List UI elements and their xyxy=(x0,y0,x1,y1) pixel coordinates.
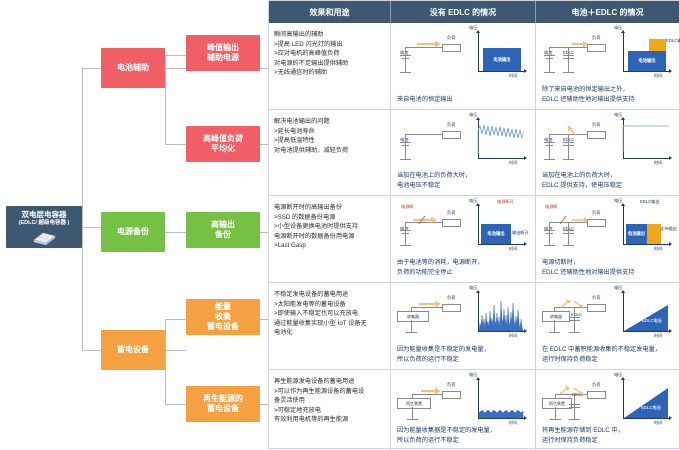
node-label: 电源备份 xyxy=(117,227,149,237)
energy-source-box: 收集器 xyxy=(397,311,429,322)
node-storage-device[interactable]: 蓄电设备 xyxy=(101,330,165,370)
connector xyxy=(165,232,186,233)
chart-edlc-voltage-label: EDLC电压 xyxy=(638,317,666,325)
description-text: 不稳定发电设备的蓄电用途 >太阳能发电等的蓄电设备 >即使输入不稳定也可以充放电… xyxy=(274,290,386,338)
energy-source-box: 收集器 xyxy=(542,311,570,322)
cell-description: 不稳定发电设备的蓄电用途 >太阳能发电等的蓄电设备 >即使输入不稳定也可以充放电… xyxy=(269,283,391,369)
waveform-low-bumpy xyxy=(479,380,524,418)
connector xyxy=(165,350,186,351)
header-effect-usage: 效果和用途 xyxy=(269,1,391,23)
table-row: 瞬间高输出的辅助 >提高 LED 闪光灯的输出 >应对电机的高峰值负荷 对电源的… xyxy=(269,23,679,110)
node-label: 峰值输出 辅助电源 xyxy=(207,43,239,63)
caption: 因为能量收集器是不稳定的发电量， 所以负荷的运行不稳定 xyxy=(397,426,496,445)
chart-block-edlc-label: EDLC输出 xyxy=(666,38,680,44)
connector xyxy=(165,144,186,145)
chart-block-battery: 电池输出 xyxy=(483,48,521,71)
chart-block-battery: 电池输出 xyxy=(626,224,647,244)
cell-without-edlc: 电池 负荷 电压 xyxy=(391,23,536,109)
node-regen-storage[interactable]: 再生能源的 蓄电设备 xyxy=(186,386,260,422)
cell-without-edlc: 电源断 电池 负荷 xyxy=(391,196,536,282)
chart-edlc-output-label: EDLC输出 xyxy=(640,199,660,205)
node-label: 能量 收集 蓄电设备 xyxy=(207,302,239,332)
caption: 由于电池等的消耗，电源断开， 负荷的功能完全停止 xyxy=(397,258,484,277)
cell-description: 解决电池输出的问题 >延长电池寿命 >提高低温特性 对电池提供辅助，减轻负荷 xyxy=(269,110,391,195)
connector xyxy=(82,68,83,227)
voltage-chart: 电压 时间 EDLC电压 xyxy=(616,376,676,428)
connector xyxy=(165,319,166,404)
cell-without-edlc: 再生装置 负荷 电压 xyxy=(391,370,536,450)
caption: 来自电池的恒定输出 xyxy=(397,95,453,104)
cell-description: 瞬间高输出的辅助 >提高 LED 闪光灯的输出 >应对电机的高峰值负荷 对电源的… xyxy=(269,23,391,109)
table-row: 解决电池输出的问题 >延长电池寿命 >提高低温特性 对电池提供辅助，减轻负荷 电… xyxy=(269,110,679,196)
caption: 将再生能源存储到 EDLC 中， 运行时保持负荷稳定 xyxy=(542,426,624,445)
power-cut-label: 电源断 xyxy=(545,204,558,210)
caption: 除了来自电池的恒定输出之外， EDLC 还辅助性地对输出提供支持 xyxy=(542,85,634,104)
power-cut-label: 电源断 xyxy=(401,204,414,210)
description-text: 再生能源发电设备的蓄电用途 >可以作为再生能源设备的蓄电设 备灵活使用 >可稳定… xyxy=(274,377,386,425)
circuit-diagram: 电源断 电池 EDLC 负荷 xyxy=(542,204,614,252)
node-peak-output[interactable]: 峰值输出 辅助电源 xyxy=(186,35,260,71)
voltage-chart: 电压 时间 xyxy=(471,116,531,168)
voltage-chart: 电压 时间 xyxy=(471,376,531,428)
description-text: 解决电池输出的问题 >延长电池寿命 >提高低温特性 对电池提供辅助，减轻负荷 xyxy=(274,117,386,155)
circuit-diagram: 电池 负荷 xyxy=(397,31,469,79)
node-label: 高峰值负荷 平均化 xyxy=(203,134,243,154)
circuit-diagram: 再生装置 EDLC 负荷 xyxy=(542,378,614,426)
caption: 因为能量收集是不稳定的发电量， 所以负荷的运行不稳定 xyxy=(397,345,490,364)
chart-block-battery: 电池输出 xyxy=(481,224,511,244)
chart-block-edlc xyxy=(647,224,661,244)
circuit-diagram: 电源断 电池 负荷 xyxy=(397,204,469,252)
root-title: 双电层电容器 xyxy=(22,210,67,219)
circuit-diagram: 电池 负荷 xyxy=(397,118,469,166)
cell-without-edlc: 收集器 负荷 电压 xyxy=(391,283,536,369)
waveform-ramp-triangle xyxy=(624,380,669,418)
node-label: 蓄电设备 xyxy=(117,345,149,355)
regen-source-box: 再生装置 xyxy=(397,398,431,409)
node-label: 高输出 备份 xyxy=(211,220,235,240)
waveform-spiky-irregular xyxy=(479,293,524,331)
connector xyxy=(165,404,186,405)
connector xyxy=(165,319,186,320)
capacitor-chip-icon xyxy=(29,229,59,246)
connector xyxy=(82,227,101,228)
cell-description: 电源断开时的高输出备份 >SSD 的数据备份电源 >小型设备更换电池时提供支持 … xyxy=(269,196,391,282)
output-chart: 电压 时间 电池输出 xyxy=(471,29,531,81)
comparison-table: 效果和用途 没有 EDLC 的情况 电池＋EDLC 的情况 瞬间高输出的辅助 >… xyxy=(268,0,680,449)
support-output-label: 支持输出 xyxy=(660,226,677,232)
description-text: 电源断开时的高输出备份 >SSD 的数据备份电源 >小型设备更换电池时提供支持 … xyxy=(274,203,386,251)
cell-with-edlc: 再生装置 EDLC 负荷 xyxy=(536,370,679,450)
table-row: 再生能源发电设备的蓄电用途 >可以作为再生能源设备的蓄电设 备灵活使用 >可稳定… xyxy=(269,370,679,450)
connector xyxy=(165,55,166,144)
caption: 在 EDLC 中蓄积能源收集的不稳定发电量， 运行时保持负荷稳定 xyxy=(542,345,661,364)
root-node-edlc[interactable]: 双电层电容器 (EDLC/ 超级电容器 ) xyxy=(6,206,82,248)
circuit-diagram: 收集器 EDLC 负荷 xyxy=(542,291,614,339)
output-chart: 电压 电源断开 时间 电池输出 输出断开 xyxy=(471,202,531,254)
header-without-edlc: 没有 EDLC 的情况 xyxy=(391,1,536,23)
connector xyxy=(82,227,83,350)
node-energy-harvest[interactable]: 能量 收集 蓄电设备 xyxy=(186,299,260,335)
waveform-flat-stable xyxy=(623,120,671,158)
cell-with-edlc: 电源断 电池 EDLC 负荷 xyxy=(536,196,679,282)
cell-description: 再生能源发电设备的蓄电用途 >可以作为再生能源设备的蓄电设 备灵活使用 >可稳定… xyxy=(269,370,391,450)
description-text: 瞬间高输出的辅助 >提高 LED 闪光灯的输出 >应对电机的高峰值负荷 对电源的… xyxy=(274,30,386,78)
table-row: 电源断开时的高输出备份 >SSD 的数据备份电源 >小型设备更换电池时提供支持 … xyxy=(269,196,679,283)
node-label: 电池辅助 xyxy=(117,63,149,73)
connector xyxy=(82,350,101,351)
connector xyxy=(165,55,186,56)
caption: 当加在电池上的负荷大时， 电池电压不稳定 xyxy=(397,171,471,190)
connector xyxy=(165,68,186,69)
connector xyxy=(82,68,101,69)
cell-with-edlc: 电池 EDLC 负荷 xyxy=(536,23,679,109)
cell-with-edlc: 收集器 EDLC 负荷 xyxy=(536,283,679,369)
node-battery-assist[interactable]: 电池辅助 xyxy=(101,48,165,88)
root-subtitle: (EDLC/ 超级电容器 ) xyxy=(19,220,70,227)
chart-power-cut-label: 电源断开 xyxy=(497,199,514,205)
voltage-chart: 电压 时间 EDLC电压 xyxy=(616,289,676,341)
node-high-output-backup[interactable]: 高输出 备份 xyxy=(186,212,260,248)
output-chart: 电压 EDLC输出 时间 电池输出 支持输出 xyxy=(616,202,676,254)
circuit-diagram: 再生装置 负荷 xyxy=(397,378,469,426)
table-row: 不稳定发电设备的蓄电用途 >太阳能发电等的蓄电设备 >即使输入不稳定也可以充放电… xyxy=(269,283,679,370)
header-with-edlc: 电池＋EDLC 的情况 xyxy=(536,1,679,23)
circuit-diagram: 电池 EDLC 负荷 xyxy=(542,118,614,166)
table-header-row: 效果和用途 没有 EDLC 的情况 电池＋EDLC 的情况 xyxy=(269,1,679,23)
cell-without-edlc: 电池 负荷 电压 时间 xyxy=(391,110,536,195)
waveform-ripple-unstable xyxy=(478,120,526,158)
node-peak-load-leveling[interactable]: 高峰值负荷 平均化 xyxy=(186,126,260,162)
circuit-diagram: 收集器 负荷 xyxy=(397,291,469,339)
regen-source-box: 再生装置 xyxy=(542,398,572,409)
taxonomy-tree: 双电层电容器 (EDLC/ 超级电容器 ) 电池辅助 电源备份 蓄电设备 峰值输… xyxy=(0,0,268,449)
voltage-chart: 电压 时间 xyxy=(471,289,531,341)
chart-block-edlc xyxy=(649,39,666,51)
chart-block-battery: 电池输出 xyxy=(628,51,666,71)
node-power-backup[interactable]: 电源备份 xyxy=(101,212,165,252)
voltage-chart: 电压 时间 xyxy=(616,116,676,168)
caption: 当加在电池上的负荷大时， EDLC 提供支持，使电压稳定 xyxy=(542,171,622,190)
waveform-ramp-triangle xyxy=(624,293,669,331)
cell-with-edlc: 电池 EDLC 负荷 xyxy=(536,110,679,195)
circuit-diagram: 电池 EDLC 负荷 xyxy=(542,31,614,79)
output-chart: 电压 时间 电池输出 EDLC输出 xyxy=(616,29,676,81)
node-label: 再生能源的 蓄电设备 xyxy=(203,394,243,414)
chart-edlc-voltage-label: EDLC电压 xyxy=(636,404,666,412)
output-off-label: 输出断开 xyxy=(512,230,529,236)
caption: 电源切断时， EDLC 还辅助性地对输出提供支持 xyxy=(542,258,634,277)
